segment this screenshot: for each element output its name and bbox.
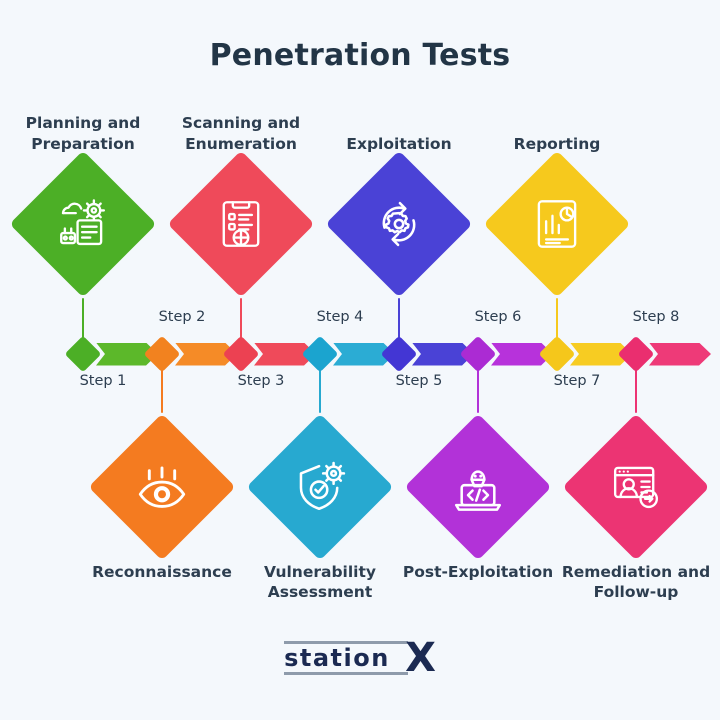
- page-title: Penetration Tests: [0, 38, 720, 73]
- step-label-8: Step 8: [601, 309, 711, 325]
- step-label-6: Step 6: [443, 309, 553, 325]
- connector-stem-6: [477, 367, 480, 413]
- logo-rule-bottom: [284, 672, 408, 675]
- phase-diamond-4[interactable]: [246, 413, 393, 560]
- phase-name-text-7: Reporting: [472, 134, 642, 154]
- checklist-document-icon: [212, 195, 270, 253]
- phase-diamond-5[interactable]: [325, 150, 472, 297]
- timeline-node-5[interactable]: [381, 336, 418, 373]
- phase-name-5: Exploitation: [314, 108, 484, 154]
- timeline-node-2[interactable]: [144, 336, 181, 373]
- phase-name-text-5: Exploitation: [314, 134, 484, 154]
- infographic-canvas: Penetration Tests Step 1Planning and Pre…: [0, 0, 720, 720]
- connector-stem-5: [398, 298, 401, 341]
- connector-stem-2: [161, 367, 164, 413]
- phase-name-3: Scanning and Enumeration: [156, 108, 326, 154]
- timeline-node-7[interactable]: [539, 336, 576, 373]
- phase-name-2: Reconnaissance: [77, 562, 247, 582]
- step-label-3: Step 3: [206, 373, 316, 389]
- step-label-1: Step 1: [48, 373, 158, 389]
- connector-stem-1: [82, 298, 85, 341]
- phase-diamond-7[interactable]: [483, 150, 630, 297]
- timeline-node-1[interactable]: [65, 336, 102, 373]
- step-label-4: Step 4: [285, 309, 395, 325]
- phase-diamond-6[interactable]: [404, 413, 551, 560]
- connector-stem-7: [556, 298, 559, 341]
- connector-stem-4: [319, 367, 322, 413]
- timeline-arrow-8: [649, 343, 711, 366]
- laptop-hacker-code-icon: [449, 458, 507, 516]
- step-label-2: Step 2: [127, 309, 237, 325]
- phase-name-text-3: Scanning and Enumeration: [156, 113, 326, 154]
- planning-gear-cloud-icon: [54, 195, 112, 253]
- report-chart-document-icon: [528, 195, 586, 253]
- timeline-node-3[interactable]: [223, 336, 260, 373]
- phase-diamond-3[interactable]: [167, 150, 314, 297]
- timeline-node-6[interactable]: [460, 336, 497, 373]
- phase-name-text-1: Planning and Preparation: [0, 113, 168, 154]
- phase-name-7: Reporting: [472, 108, 642, 154]
- timeline-node-4[interactable]: [302, 336, 339, 373]
- shield-check-gear-icon: [291, 458, 349, 516]
- phase-diamond-1[interactable]: [9, 150, 156, 297]
- stationx-logo: station X: [0, 640, 720, 677]
- logo-wordmark: station: [284, 646, 408, 670]
- phase-name-6: Post-Exploitation: [393, 562, 563, 582]
- phase-diamond-8[interactable]: [562, 413, 709, 560]
- step-label-5: Step 5: [364, 373, 474, 389]
- connector-stem-3: [240, 298, 243, 341]
- browser-user-arrow-icon: [607, 458, 665, 516]
- eye-icon: [133, 458, 191, 516]
- gear-cycle-icon: [370, 195, 428, 253]
- phase-name-8: Remediation and Follow-up: [551, 562, 720, 603]
- phase-diamond-2[interactable]: [88, 413, 235, 560]
- phase-name-1: Planning and Preparation: [0, 108, 168, 154]
- step-label-7: Step 7: [522, 373, 632, 389]
- logo-x-mark: X: [405, 640, 436, 677]
- timeline-node-8[interactable]: [618, 336, 655, 373]
- connector-stem-8: [635, 367, 638, 413]
- phase-name-4: Vulnerability Assessment: [235, 562, 405, 603]
